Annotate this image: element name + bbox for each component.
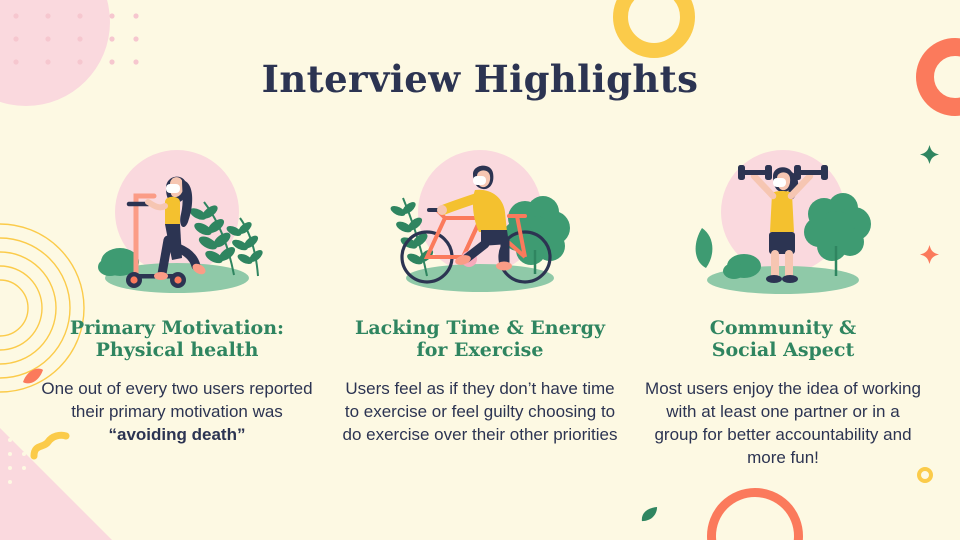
column-body-text: One out of every two users reported thei… bbox=[41, 379, 312, 421]
column-heading: Primary Motivation: Physical health bbox=[70, 318, 284, 362]
green-leaf-bottom-center bbox=[641, 506, 658, 523]
column-heading: Community & Social Aspect bbox=[710, 318, 856, 362]
page-title: Interview Highlights bbox=[0, 57, 960, 101]
column-body: One out of every two users reported thei… bbox=[38, 378, 316, 447]
highlights-columns: Primary Motivation: Physical health One … bbox=[38, 140, 922, 469]
highlight-column-lacking-time: Lacking Time & Energy for Exercise Users… bbox=[341, 140, 619, 469]
green-sparkle-icon bbox=[920, 145, 939, 164]
column-heading: Lacking Time & Energy for Exercise bbox=[355, 318, 605, 362]
yellow-ring-top-center bbox=[613, 0, 695, 58]
woman-lifting-dumbbells-illustration bbox=[688, 140, 878, 300]
column-body: Users feel as if they don’t have time to… bbox=[341, 378, 619, 447]
slide: Interview Highlights bbox=[0, 0, 960, 540]
column-body-text: Users feel as if they don’t have time to… bbox=[343, 379, 618, 444]
highlight-column-community: Community & Social Aspect Most users enj… bbox=[644, 140, 922, 469]
coral-sparkle-icon bbox=[920, 245, 939, 264]
column-body-quote: “avoiding death” bbox=[38, 424, 316, 447]
woman-on-scooter-illustration bbox=[82, 140, 272, 300]
column-body: Most users enjoy the idea of working wit… bbox=[644, 378, 922, 470]
man-on-bicycle-illustration bbox=[385, 140, 575, 300]
highlight-column-primary-motivation: Primary Motivation: Physical health One … bbox=[38, 140, 316, 469]
coral-ring-bottom-center bbox=[707, 488, 803, 540]
column-body-text: Most users enjoy the idea of working wit… bbox=[645, 379, 921, 467]
